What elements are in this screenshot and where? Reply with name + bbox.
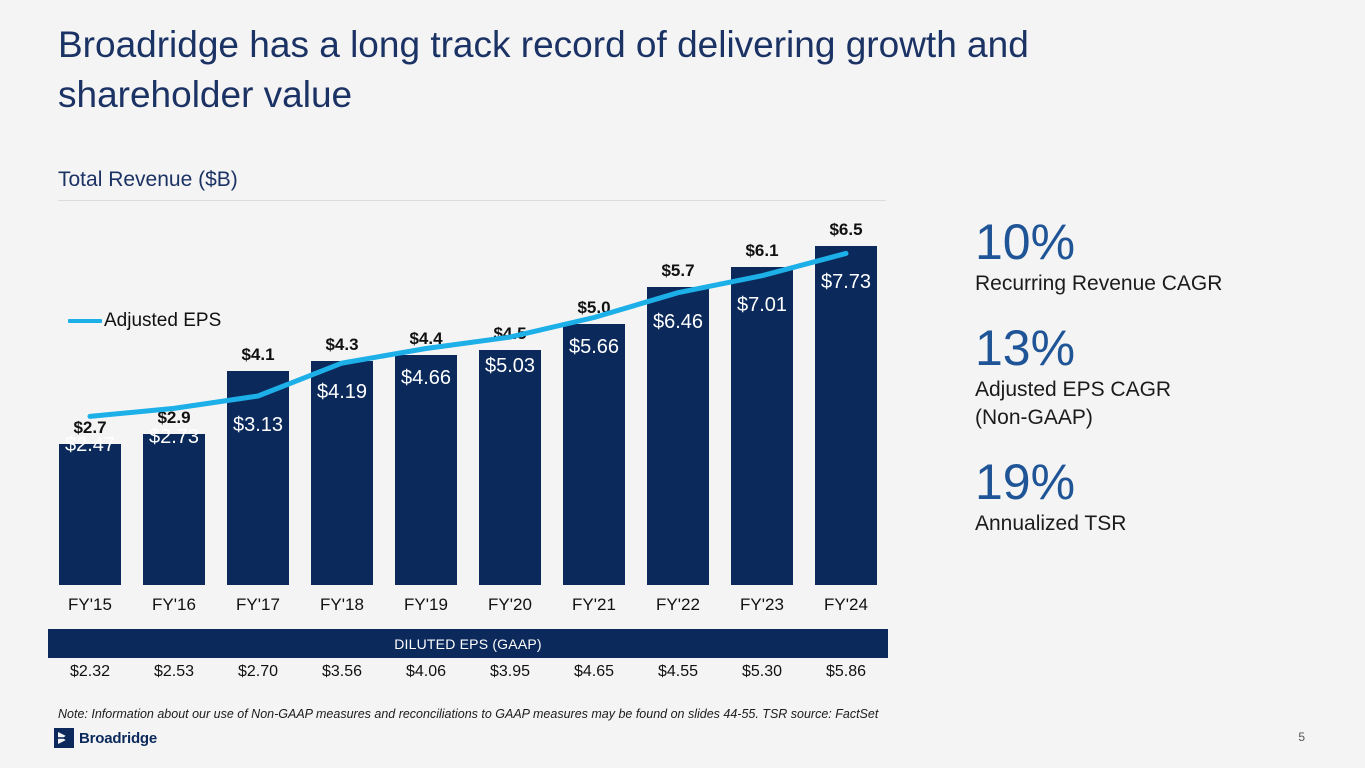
broadridge-logo: Broadridge	[54, 728, 157, 748]
diluted-eps-values-row: $2.32$2.53$2.70$3.56$4.06$3.95$4.65$4.55…	[48, 663, 888, 689]
stat-block: 10%Recurring Revenue CAGR	[975, 214, 1345, 298]
chart-section-label: Total Revenue ($B)	[58, 168, 238, 192]
x-axis-tick: FY'17	[216, 595, 300, 621]
diluted-eps-value: $5.86	[804, 663, 888, 689]
diluted-eps-value: $4.06	[384, 663, 468, 689]
broadridge-wordmark: Broadridge	[79, 730, 157, 747]
x-axis-tick: FY'16	[132, 595, 216, 621]
bar-value-label: $5.7	[638, 261, 718, 281]
broadridge-mark-icon	[54, 728, 74, 748]
eps-value-label: $2.47	[45, 434, 135, 457]
diluted-eps-value: $3.95	[468, 663, 552, 689]
revenue-eps-chart: $2.7$2.9$4.1$4.3$4.4$4.5$5.0$5.7$6.1$6.5…	[48, 225, 888, 585]
eps-value-label: $4.19	[297, 381, 387, 404]
bar-value-label: $4.4	[386, 329, 466, 349]
revenue-bar	[227, 371, 289, 585]
eps-value-label: $4.66	[381, 367, 471, 390]
revenue-bar	[563, 324, 625, 585]
bar-value-label: $2.9	[134, 408, 214, 428]
slide: Broadridge has a long track record of de…	[0, 0, 1365, 768]
legend-label-adjusted-eps: Adjusted EPS	[104, 310, 221, 332]
stat-value: 10%	[975, 214, 1345, 270]
x-axis-labels: FY'15FY'16FY'17FY'18FY'19FY'20FY'21FY'22…	[48, 595, 888, 621]
stat-label: Recurring Revenue CAGR	[975, 270, 1345, 298]
diluted-eps-value: $2.32	[48, 663, 132, 689]
x-axis-tick: FY'24	[804, 595, 888, 621]
diluted-eps-value: $2.53	[132, 663, 216, 689]
x-axis-tick: FY'22	[636, 595, 720, 621]
line-swatch-icon	[68, 319, 102, 323]
bar-value-label: $6.1	[722, 241, 802, 261]
x-axis-tick: FY'19	[384, 595, 468, 621]
x-axis-tick: FY'15	[48, 595, 132, 621]
diluted-eps-value: $4.55	[636, 663, 720, 689]
chart-legend: Adjusted EPS	[68, 310, 221, 332]
stat-value: 19%	[975, 454, 1345, 510]
eps-value-label: $5.66	[549, 336, 639, 359]
eps-value-label: $5.03	[465, 355, 555, 378]
section-divider	[58, 200, 886, 201]
diluted-eps-value: $5.30	[720, 663, 804, 689]
diluted-eps-value: $3.56	[300, 663, 384, 689]
page-number: 5	[1298, 730, 1305, 744]
footnote: Note: Information about our use of Non-G…	[58, 707, 878, 721]
diluted-eps-value: $4.65	[552, 663, 636, 689]
eps-value-label: $6.46	[633, 311, 723, 334]
eps-value-label: $2.73	[129, 426, 219, 449]
diluted-eps-value: $2.70	[216, 663, 300, 689]
revenue-bar	[479, 350, 541, 585]
stat-value: 13%	[975, 320, 1345, 376]
revenue-bar	[395, 355, 457, 585]
eps-value-label: $7.73	[801, 271, 891, 294]
bar-value-label: $4.5	[470, 324, 550, 344]
bar-value-label: $4.3	[302, 335, 382, 355]
bar-value-label: $5.0	[554, 298, 634, 318]
bar-value-label: $4.1	[218, 345, 298, 365]
x-axis-tick: FY'21	[552, 595, 636, 621]
x-axis-tick: FY'23	[720, 595, 804, 621]
stat-block: 19%Annualized TSR	[975, 454, 1345, 538]
eps-value-label: $7.01	[717, 294, 807, 317]
stat-label: Annualized TSR	[975, 510, 1345, 538]
eps-value-label: $3.13	[213, 414, 303, 437]
revenue-bar	[143, 434, 205, 585]
x-axis-tick: FY'18	[300, 595, 384, 621]
revenue-bar	[815, 246, 877, 585]
stat-block: 13%Adjusted EPS CAGR(Non-GAAP)	[975, 320, 1345, 432]
revenue-bar	[59, 444, 121, 585]
diluted-eps-header: DILUTED EPS (GAAP)	[48, 629, 888, 658]
stat-label: Adjusted EPS CAGR(Non-GAAP)	[975, 376, 1345, 432]
chart-plot-area: $2.7$2.9$4.1$4.3$4.4$4.5$5.0$5.7$6.1$6.5…	[48, 225, 888, 585]
x-axis-tick: FY'20	[468, 595, 552, 621]
bar-value-label: $6.5	[806, 220, 886, 240]
page-title: Broadridge has a long track record of de…	[58, 20, 1208, 120]
stats-panel: 10%Recurring Revenue CAGR13%Adjusted EPS…	[975, 214, 1345, 560]
